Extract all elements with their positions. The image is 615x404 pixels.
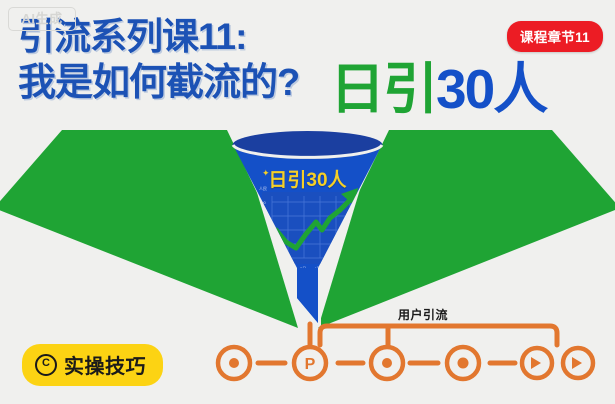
flow-node-1[interactable] (218, 347, 250, 379)
flow-bracket (320, 326, 557, 345)
title-highlight-green: 日引 (330, 58, 436, 120)
title-line-2: 我是如何截流的? (18, 64, 299, 102)
svg-text:2日: 2日 (284, 266, 290, 271)
title-line-1: 引流系列课11: (18, 18, 299, 55)
copyright-icon: C (35, 354, 57, 376)
svg-text:人民: 人民 (259, 186, 267, 191)
sparkle-icon: ✦ (262, 168, 270, 179)
page-title: 引流系列课11: 我是如何截流的? (18, 18, 299, 102)
flow-node-4[interactable] (447, 347, 479, 379)
skill-badge-label: 实操技巧 (64, 350, 146, 379)
flow-node-5[interactable] (522, 348, 552, 378)
flow-node-2[interactable]: P (294, 347, 326, 379)
flow-node-3[interactable] (371, 347, 403, 379)
poster-canvas: AI生成 引流系列课11: 我是如何截流的? 日引30人 课程章节11 (0, 0, 615, 404)
svg-text:5日: 5日 (329, 266, 335, 271)
skill-badge[interactable]: C 实操技巧 (22, 344, 163, 386)
flow-node-6[interactable] (563, 348, 593, 378)
title-highlight: 日引30人 (330, 62, 546, 117)
chapter-badge[interactable]: 课程章节11 (507, 21, 603, 52)
svg-text:P: P (305, 356, 316, 373)
flow-label: 用户引流 (398, 306, 448, 323)
title-highlight-blue: 30人 (436, 58, 546, 120)
